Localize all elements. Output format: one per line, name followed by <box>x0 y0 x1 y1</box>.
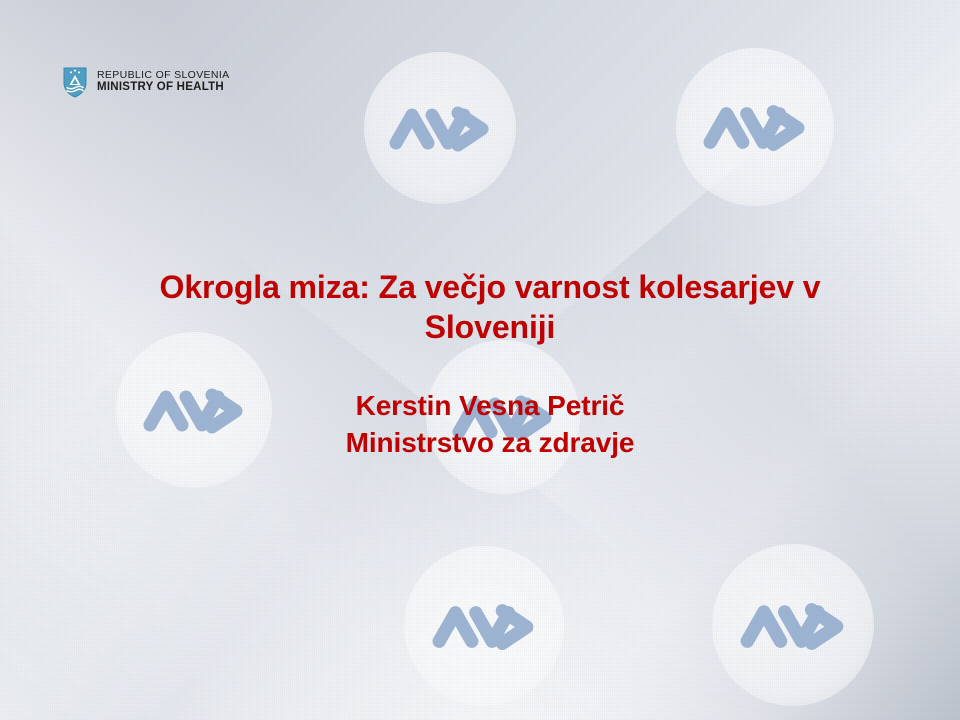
presentation-title-slide: REPUBLIC OF SLOVENIA MINISTRY OF HEALTH … <box>0 0 960 720</box>
slide-title: Okrogla miza: Za večjo varnost kolesarje… <box>110 268 870 347</box>
slide-subtitle: Kerstin Vesna Petrič Ministrstvo za zdra… <box>110 388 870 462</box>
slide-title-line-1: Okrogla miza: Za večjo varnost kolesarje… <box>110 268 870 308</box>
ministry-header-lockup: REPUBLIC OF SLOVENIA MINISTRY OF HEALTH <box>62 66 229 98</box>
background-texture <box>0 0 960 720</box>
ministry-header-text: REPUBLIC OF SLOVENIA MINISTRY OF HEALTH <box>97 70 229 95</box>
header-country-label: REPUBLIC OF SLOVENIA <box>97 70 229 82</box>
slide-title-line-2: Sloveniji <box>110 308 870 348</box>
slide-subtitle-organization: Ministrstvo za zdravje <box>110 425 870 462</box>
slovenia-coat-of-arms-icon <box>62 66 88 98</box>
slide-subtitle-presenter-name: Kerstin Vesna Petrič <box>110 388 870 425</box>
header-ministry-label: MINISTRY OF HEALTH <box>97 81 229 94</box>
